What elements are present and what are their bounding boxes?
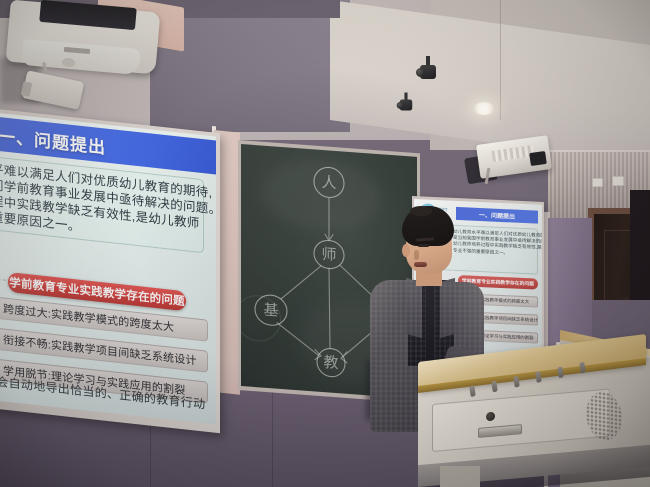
projector-lens <box>529 151 547 166</box>
wall-outlet <box>612 176 624 186</box>
lectern-vent <box>469 385 475 397</box>
security-camera-icon <box>420 56 436 79</box>
lectern-base <box>440 466 480 487</box>
presenter-nose <box>414 250 419 260</box>
ceiling-downlight-icon <box>473 102 495 115</box>
wall-outlet <box>592 178 603 187</box>
security-camera-icon <box>400 93 412 111</box>
presenter-ear <box>402 244 410 257</box>
presenter-eye <box>418 244 429 247</box>
presenter-hair-highlight <box>410 206 432 216</box>
presenter-mouth <box>414 262 427 267</box>
screen-glare <box>0 112 216 425</box>
lectern-vent <box>557 366 563 378</box>
lectern-vent <box>491 380 497 392</box>
classroom-photo: 人 师 基 建 教 一、问题提出 平难以满足人们对优质幼儿教育的期待, 门学前教… <box>0 0 650 487</box>
lectern-vent <box>535 371 541 383</box>
lectern-vent <box>513 376 519 388</box>
ceiling-seam <box>500 0 501 120</box>
